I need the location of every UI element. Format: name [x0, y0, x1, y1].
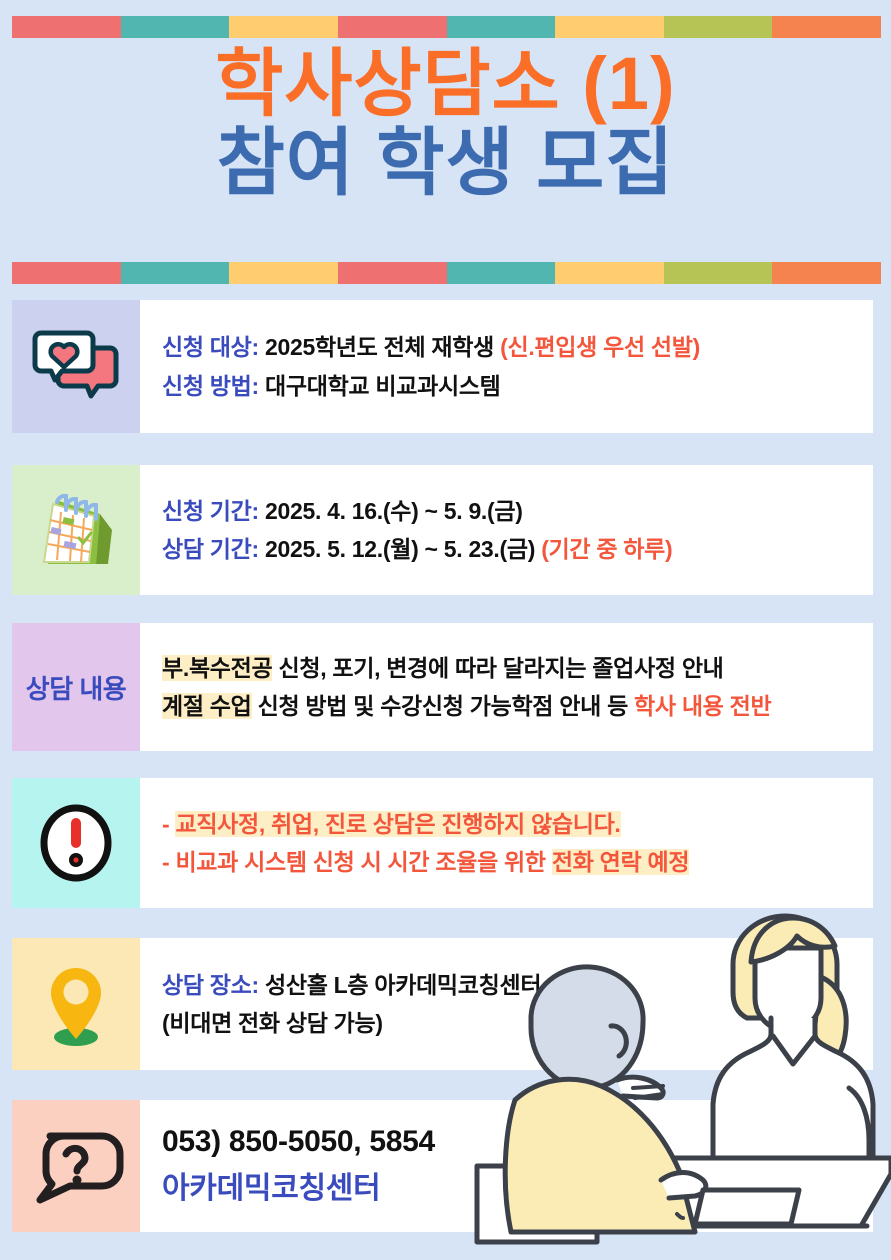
text-segment: 신청 대상:	[162, 334, 265, 360]
text-segment: 053) 850-5050, 5854	[162, 1125, 435, 1158]
poster-title: 학사상담소 (1) 참여 학생 모집	[0, 46, 891, 201]
color-bar-segment-3	[229, 262, 338, 284]
text-segment: 교직사정, 취업, 진로 상담은 진행하지 않습니다.	[175, 811, 620, 837]
text-cell-contact: 053) 850-5050, 5854아카데믹코칭센터	[140, 1100, 873, 1232]
text-segment: (신.편입생 우선 선발)	[500, 334, 700, 360]
row-place-line-2: (비대면 전화 상담 가능)	[162, 1009, 859, 1037]
color-bar-segment-2	[121, 262, 230, 284]
info-row-period: 신청 기간: 2025. 4. 16.(수) ~ 5. 9.(금)상담 기간: …	[12, 465, 873, 595]
color-bar-segment-3	[229, 16, 338, 38]
poster-root: 학사상담소 (1) 참여 학생 모집 신청 대상: 2025학년도 전체 재학생…	[0, 0, 891, 1260]
desk-calendar-icon	[26, 486, 126, 574]
text-segment: 계절 수업	[162, 693, 252, 719]
color-bar-bottom	[12, 262, 881, 284]
icon-cell-target	[12, 300, 140, 433]
text-segment: 전화 연락 예정	[552, 849, 689, 875]
speech-bubbles-heart-icon	[30, 328, 122, 406]
text-segment: 신청 방법 및 수강신청 가능학점 안내 등	[252, 693, 634, 719]
color-bar-segment-4	[338, 262, 447, 284]
text-cell-place: 상담 장소: 성산홀 L층 아카데믹코칭센터(비대면 전화 상담 가능)	[140, 938, 873, 1070]
color-bar-segment-7	[664, 16, 773, 38]
color-bar-segment-2	[121, 16, 230, 38]
info-row-notice: - 교직사정, 취업, 진로 상담은 진행하지 않습니다.- 비교과 시스템 신…	[12, 778, 873, 908]
row-period-line-2: 상담 기간: 2025. 5. 12.(월) ~ 5. 23.(금) (기간 중…	[162, 535, 859, 563]
text-segment: 신청, 포기, 변경에 따라 달라지는 졸업사정 안내	[272, 655, 723, 681]
row-notice-line-1: - 교직사정, 취업, 진로 상담은 진행하지 않습니다.	[162, 810, 859, 838]
text-segment: 상담 장소:	[162, 972, 265, 998]
color-bar-segment-5	[447, 16, 556, 38]
color-bar-segment-7	[664, 262, 773, 284]
color-bar-segment-5	[447, 262, 556, 284]
text-segment: - 비교과 시스템 신청 시 시간 조율을 위한	[162, 849, 552, 875]
text-segment: 학사 내용 전반	[634, 693, 771, 719]
counsel-content-label: 상담 내용	[26, 669, 126, 706]
row-target-line-1: 신청 대상: 2025학년도 전체 재학생 (신.편입생 우선 선발)	[162, 333, 859, 361]
icon-cell-period	[12, 465, 140, 595]
text-segment: 상담 기간:	[162, 536, 265, 562]
text-segment: 신청 방법:	[162, 373, 265, 399]
color-bar-segment-4	[338, 16, 447, 38]
text-segment: 아카데믹코칭센터	[162, 1172, 380, 1205]
row-content-line-2: 계절 수업 신청 방법 및 수강신청 가능학점 안내 등 학사 내용 전반	[162, 692, 859, 720]
exclamation-circle-icon	[36, 801, 116, 885]
text-segment: 부.복수전공	[162, 655, 272, 681]
text-cell-target: 신청 대상: 2025학년도 전체 재학생 (신.편입생 우선 선발)신청 방법…	[140, 300, 873, 433]
title-line-2: 참여 학생 모집	[0, 125, 891, 200]
text-segment: 2025학년도 전체 재학생	[265, 334, 500, 360]
text-segment: -	[162, 811, 175, 837]
text-segment: 성산홀 L층 아카데믹코칭센터	[265, 972, 541, 998]
info-row-content: 상담 내용 부.복수전공 신청, 포기, 변경에 따라 달라지는 졸업사정 안내…	[12, 623, 873, 751]
text-segment: 신청 기간:	[162, 498, 265, 524]
text-cell-notice: - 교직사정, 취업, 진로 상담은 진행하지 않습니다.- 비교과 시스템 신…	[140, 778, 873, 908]
icon-cell-notice	[12, 778, 140, 908]
text-segment: (기간 중 하루)	[541, 536, 672, 562]
info-row-place: 상담 장소: 성산홀 L층 아카데믹코칭센터(비대면 전화 상담 가능)	[12, 938, 873, 1070]
icon-cell-place	[12, 938, 140, 1070]
icon-cell-contact	[12, 1100, 140, 1232]
icon-cell-content: 상담 내용	[12, 623, 140, 751]
text-segment: 2025. 4. 16.(수) ~ 5. 9.(금)	[265, 498, 523, 524]
text-segment: 대구대학교 비교과시스템	[265, 373, 501, 399]
row-content-line-1: 부.복수전공 신청, 포기, 변경에 따라 달라지는 졸업사정 안내	[162, 654, 859, 682]
text-cell-period: 신청 기간: 2025. 4. 16.(수) ~ 5. 9.(금)상담 기간: …	[140, 465, 873, 595]
text-segment: 2025. 5. 12.(월) ~ 5. 23.(금)	[265, 536, 541, 562]
color-bar-segment-8	[772, 262, 881, 284]
row-period-line-1: 신청 기간: 2025. 4. 16.(수) ~ 5. 9.(금)	[162, 497, 859, 525]
info-row-contact: 053) 850-5050, 5854아카데믹코칭센터	[12, 1100, 873, 1232]
info-row-target: 신청 대상: 2025학년도 전체 재학생 (신.편입생 우선 선발)신청 방법…	[12, 300, 873, 433]
color-bar-segment-1	[12, 262, 121, 284]
question-speech-bubble-icon	[28, 1126, 124, 1206]
text-cell-content: 부.복수전공 신청, 포기, 변경에 따라 달라지는 졸업사정 안내계절 수업 …	[140, 623, 873, 751]
color-bar-top	[12, 16, 881, 38]
color-bar-segment-6	[555, 262, 664, 284]
color-bar-segment-6	[555, 16, 664, 38]
location-pin-icon	[37, 958, 115, 1050]
color-bar-segment-1	[12, 16, 121, 38]
row-contact-line-1: 053) 850-5050, 5854	[162, 1124, 859, 1161]
row-place-line-1: 상담 장소: 성산홀 L층 아카데믹코칭센터	[162, 971, 859, 999]
color-bar-segment-8	[772, 16, 881, 38]
title-line-1: 학사상담소 (1)	[0, 46, 891, 121]
text-segment: (비대면 전화 상담 가능)	[162, 1010, 383, 1036]
row-target-line-2: 신청 방법: 대구대학교 비교과시스템	[162, 372, 859, 400]
row-contact-line-2: 아카데믹코칭센터	[162, 1171, 859, 1208]
row-notice-line-2: - 비교과 시스템 신청 시 시간 조율을 위한 전화 연락 예정	[162, 848, 859, 876]
